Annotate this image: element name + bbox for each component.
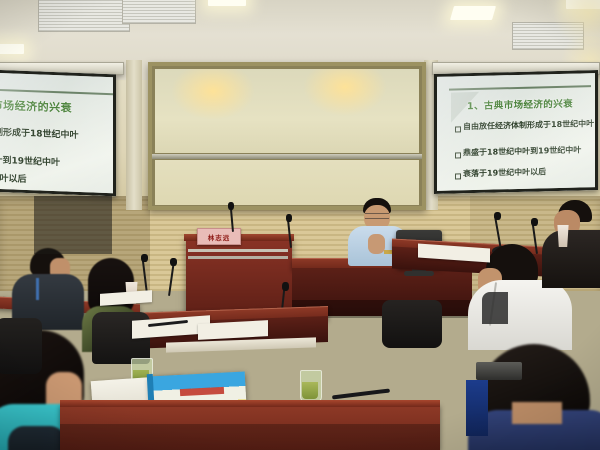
attendee-man-left-glasses: [14, 248, 84, 328]
microphone-head: [531, 218, 538, 226]
monitor-base: [404, 271, 434, 276]
ceiling-light: [208, 0, 246, 6]
ceiling-vent: [38, 0, 130, 32]
left-projection-screen: 1、古典市场经济的兴衰 自由放任经济体制形成于18世纪中叶 鼎盛于18世纪中叶到…: [0, 70, 116, 197]
whiteboard-marker-rail: [152, 154, 422, 159]
ceiling-vent: [122, 0, 196, 24]
paper-sheet: [100, 290, 152, 306]
office-chair: [382, 300, 442, 348]
ceiling-light: [0, 44, 24, 54]
tea-liquid: [302, 382, 318, 399]
microphone-head: [141, 254, 148, 262]
presenter-hands: [368, 234, 385, 254]
photo-scene: 1、古典市场经济的兴衰 自由放任经济体制形成于18世纪中叶 鼎盛于18世纪中叶到…: [0, 0, 600, 450]
wall-column: [126, 60, 142, 210]
dark-device: [476, 362, 522, 380]
microphone-head: [494, 212, 501, 220]
microphone-head: [282, 282, 289, 291]
screen-glare: [437, 73, 595, 191]
lectern-trim: [188, 256, 288, 259]
microphone-head: [170, 258, 177, 266]
whiteboard: [148, 62, 426, 210]
attendee-neck: [512, 402, 562, 424]
whiteboard-upper-panel: [155, 69, 419, 153]
wall-dark-recess: [34, 196, 112, 254]
nameplate: 林志远: [197, 228, 241, 245]
presenter-glasses: [365, 213, 389, 219]
foreground-desk-edge: [60, 400, 440, 407]
attendee-shirt: [542, 230, 600, 288]
office-chair: [0, 318, 42, 374]
pen: [332, 388, 390, 399]
slide-right: 1、古典市场经济的兴衰 自由放任经济体制形成于18世纪中叶 鼎盛于18世纪中叶到…: [437, 73, 595, 191]
microphone-head: [228, 202, 234, 210]
lectern-trim: [188, 249, 288, 252]
attendee-lanyard: [36, 278, 39, 300]
attendee-collar: [8, 426, 66, 450]
ceiling-light: [450, 6, 496, 20]
foreground-desk-shadow: [60, 424, 440, 450]
slide-left: 1、古典市场经济的兴衰 自由放任经济体制形成于18世纪中叶 鼎盛于18世纪中叶到…: [0, 73, 113, 194]
nameplate-text: 林志远: [208, 232, 231, 242]
presenter-watch: [384, 250, 392, 254]
screen-glare: [0, 73, 113, 194]
attendee-man-black-shirt-right: [546, 200, 600, 286]
attendee-collar: [482, 292, 508, 324]
right-projection-screen: 1、古典市场经济的兴衰 自由放任经济体制形成于18世纪中叶 鼎盛于18世纪中叶到…: [434, 70, 598, 194]
binder: [466, 380, 488, 436]
microphone-head: [286, 214, 292, 222]
